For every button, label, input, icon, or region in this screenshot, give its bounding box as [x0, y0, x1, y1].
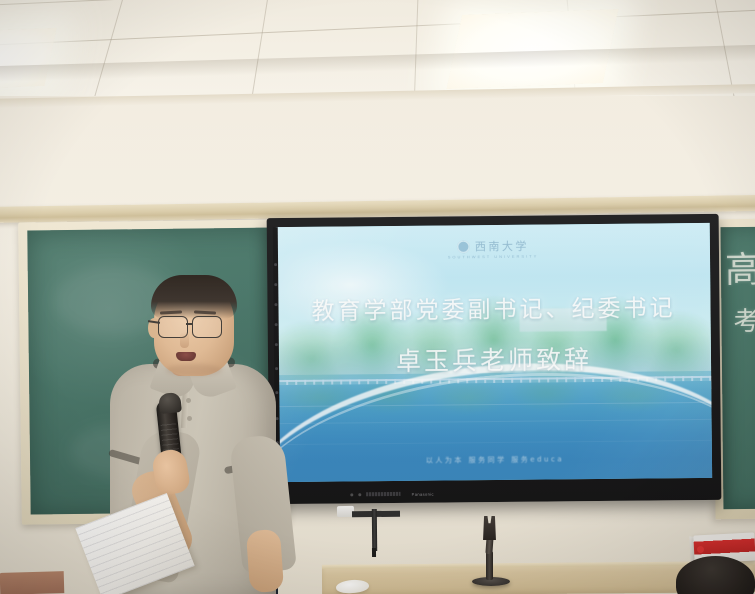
menu-button-icon[interactable]	[359, 493, 362, 496]
chalk-character-2: 考	[733, 301, 755, 338]
slide-title-block: 教育学部党委副书记、纪委书记 卓玉兵老师致辞	[276, 297, 711, 375]
ceiling-grid-line	[87, 0, 143, 104]
display-bezel-controls[interactable]: Panasonic	[351, 488, 640, 499]
display-brand-label: Panasonic	[412, 491, 434, 496]
shirt-button	[186, 398, 191, 403]
speaker-grill-icon	[367, 492, 401, 496]
power-indicator-icon[interactable]	[351, 493, 354, 496]
ceiling-edge-shadow	[0, 41, 755, 82]
chalkboard-right-surface: 高 考	[721, 227, 755, 510]
microphone-stand-post[interactable]	[486, 551, 493, 580]
eyeglasses-bridge	[186, 323, 193, 325]
speaker-right-forearm	[246, 529, 284, 593]
side-table	[0, 571, 64, 594]
chin-shadow	[166, 364, 222, 376]
classroom-photo: 高 考 西南大学 SOUTHWEST UNIVERSITY	[0, 0, 755, 594]
chalk-character-1: 高	[725, 241, 755, 293]
speaker-nose	[180, 332, 189, 348]
ceiling-grid-line	[0, 0, 755, 7]
speaker-person	[96, 280, 326, 594]
slide-title-line-2: 卓玉兵老师致辞	[277, 346, 711, 375]
university-name: 西南大学	[475, 241, 529, 253]
speaker-mouth	[176, 352, 196, 361]
mount-tip	[372, 548, 376, 557]
mount-post	[372, 509, 377, 551]
microphone-capsule	[158, 392, 182, 414]
shirt-button	[187, 416, 192, 421]
eyeglasses-lens-right	[192, 316, 222, 338]
slide-title-line-1: 教育学部党委副书记、纪委书记	[276, 297, 710, 324]
smart-display[interactable]: 西南大学 SOUTHWEST UNIVERSITY 教育学部党委副书记、纪委书记…	[267, 214, 722, 504]
university-seal-icon	[457, 241, 470, 254]
display-screen[interactable]: 西南大学 SOUTHWEST UNIVERSITY 教育学部党委副书记、纪委书记…	[276, 223, 712, 482]
ceiling-grid-line	[413, 0, 421, 104]
ir-dot	[274, 263, 277, 266]
ceiling-grid-line	[247, 0, 279, 104]
